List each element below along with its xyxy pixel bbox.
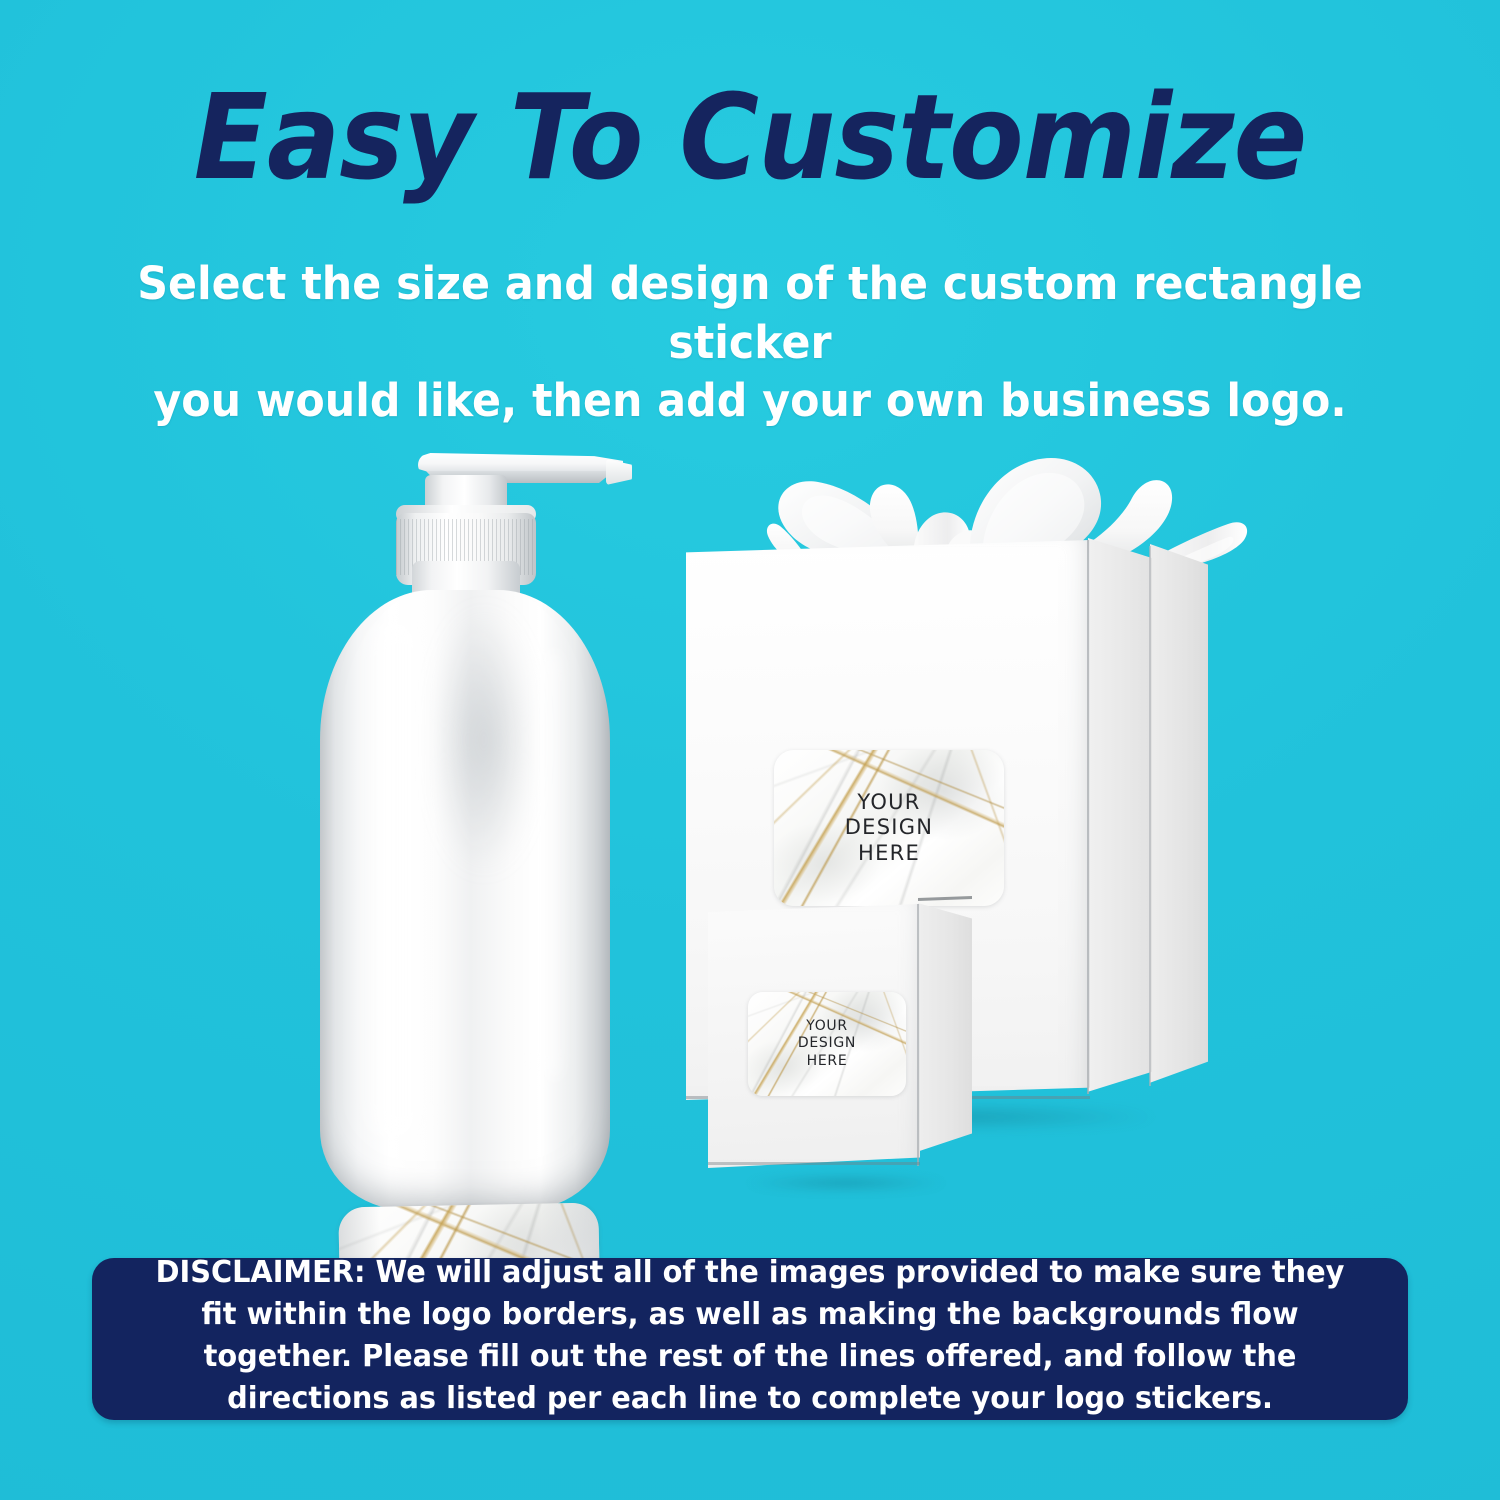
page-title: Easy To Customize	[60, 78, 1440, 196]
small-box: YOUR DESIGN HERE	[700, 890, 1000, 1190]
product-stage: YOUR DESIGN HERE	[0, 390, 1500, 1260]
disclaimer-body: We will adjust all of the images provide…	[201, 1255, 1344, 1416]
small-box-side	[918, 898, 972, 1154]
gift-sticker-line-1: YOUR	[857, 790, 920, 816]
disclaimer-label: DISCLAIMER:	[156, 1255, 366, 1290]
gift-box-edge	[1087, 540, 1089, 1094]
small-sticker-line-1: YOUR	[806, 1018, 848, 1035]
small-box-sticker-text: YOUR DESIGN HERE	[748, 992, 906, 1096]
bottle-form-shading	[428, 605, 540, 905]
gift-sticker-line-3: HERE	[858, 841, 920, 867]
gift-box-side-back	[1150, 544, 1208, 1086]
small-box-shadow	[712, 1172, 980, 1194]
gift-sticker-line-2: DESIGN	[845, 815, 934, 841]
disclaimer-text: DISCLAIMER: We will adjust all of the im…	[151, 1252, 1349, 1420]
subtitle-line-1: Select the size and design of the custom…	[123, 255, 1377, 372]
small-box-edge	[917, 904, 919, 1166]
small-sticker-line-2: DESIGN	[798, 1035, 856, 1052]
gift-box-sticker-label: YOUR DESIGN HERE	[774, 750, 1004, 906]
pump-bottle: YOUR DESIGN HERE	[300, 435, 630, 1235]
gift-box-sticker-text: YOUR DESIGN HERE	[774, 750, 1004, 906]
gift-box-edge-back	[1149, 546, 1151, 1086]
small-box-sticker-label: YOUR DESIGN HERE	[748, 992, 906, 1096]
bottle-highlight-left	[360, 620, 438, 1140]
bottle-highlight-right	[532, 650, 566, 1080]
promo-canvas: Easy To Customize Select the size and de…	[0, 0, 1500, 1500]
gift-box-side	[1088, 538, 1152, 1094]
small-box-base-line	[708, 1162, 920, 1165]
disclaimer-box: DISCLAIMER: We will adjust all of the im…	[92, 1258, 1408, 1420]
small-sticker-line-3: HERE	[807, 1053, 848, 1070]
